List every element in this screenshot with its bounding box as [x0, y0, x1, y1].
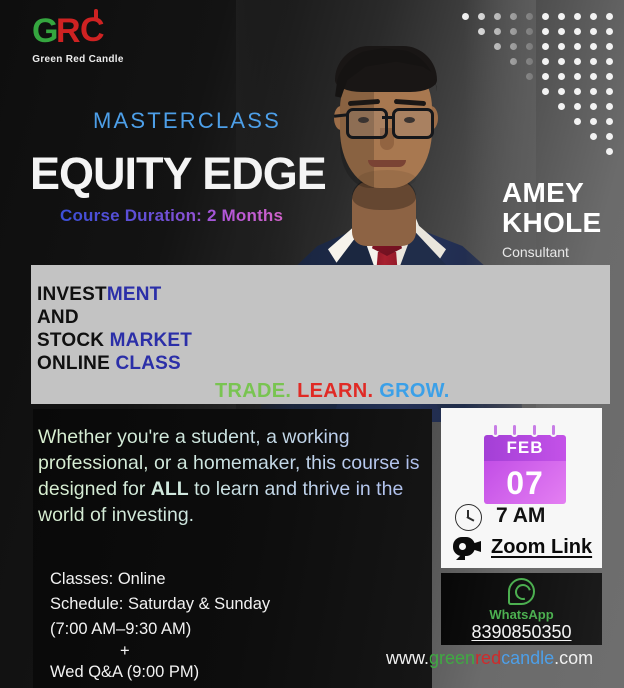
dot [558, 43, 565, 50]
session-time: 7 AM [496, 504, 545, 528]
topic-and: AND [37, 307, 79, 328]
url-red: red [475, 648, 501, 668]
dot [542, 58, 549, 65]
calendar-ring-4 [550, 423, 557, 437]
calendar-ring-2 [511, 423, 518, 437]
date-info-card: FEB 07 7 AM Zoom Link [441, 408, 602, 568]
tagline-learn: LEARN. [297, 380, 373, 402]
dot [558, 58, 565, 65]
dot [590, 118, 597, 125]
dot [542, 73, 549, 80]
dot [606, 13, 613, 20]
dot [590, 133, 597, 140]
logo-letter-r: R [56, 14, 79, 48]
dot [574, 88, 581, 95]
tagline: TRADE. LEARN. GROW. [215, 380, 450, 403]
schedule-time: (7:00 AM–9:30 AM) [50, 617, 270, 642]
topic-line-4: ONLINE CLASS [37, 352, 192, 375]
calendar-month: FEB [507, 438, 544, 458]
calendar-ring-1 [492, 423, 499, 437]
presenter-name: AMEY KHOLE [502, 178, 620, 238]
topic-class: CLASS [115, 353, 180, 374]
schedule-days: Schedule: Saturday & Sunday [50, 592, 270, 617]
schedule-block: Classes: Online Schedule: Saturday & Sun… [50, 567, 270, 685]
dot [574, 43, 581, 50]
dot [558, 73, 565, 80]
dot [606, 88, 613, 95]
mouth-shape [368, 160, 406, 167]
logo-letter-c: C [80, 13, 103, 47]
dot [590, 13, 597, 20]
eyebrow-label: MASTERCLASS [93, 108, 281, 134]
zoom-link[interactable]: Zoom Link [491, 536, 592, 559]
topic-ment: MENT [107, 284, 162, 305]
glasses-lens-right [392, 108, 434, 139]
calendar-rings [484, 423, 566, 435]
topic-line-1: INVESTMENT [37, 283, 192, 306]
url-suffix: .com [554, 648, 593, 668]
whatsapp-label: WhatsApp [441, 607, 602, 622]
dot [542, 28, 549, 35]
dot [542, 13, 549, 20]
website-url[interactable]: www.greenredcandle.com [386, 648, 593, 669]
url-green: green [429, 648, 475, 668]
whatsapp-panel[interactable]: WhatsApp 8390850350 [441, 573, 602, 645]
dot [558, 103, 565, 110]
presenter-info: AMEY KHOLE Consultant [502, 178, 620, 260]
schedule-classes: Classes: Online [50, 567, 270, 592]
video-camera-icon[interactable] [453, 536, 483, 560]
whatsapp-number[interactable]: 8390850350 [441, 622, 602, 643]
presenter-role: Consultant [502, 244, 620, 260]
candle-wick-icon [94, 9, 98, 21]
calendar-ring-3 [531, 423, 538, 437]
course-topic-text: INVESTMENT AND STOCK MARKET ONLINE CLASS [37, 283, 192, 375]
dot [542, 88, 549, 95]
paragraph-emphasis: ALL [151, 478, 189, 500]
dot [590, 28, 597, 35]
calendar-day-body: 07 [484, 461, 566, 504]
dot [606, 43, 613, 50]
dot [590, 73, 597, 80]
clock-icon [455, 504, 482, 531]
dot [606, 118, 613, 125]
page-title: EQUITY EDGE [30, 148, 326, 200]
schedule-qa: Wed Q&A (9:00 PM) [50, 660, 270, 685]
url-prefix: www. [386, 648, 429, 668]
glasses-bridge [382, 116, 392, 119]
calendar-day: 07 [506, 467, 544, 499]
glasses-lens-left [346, 108, 388, 139]
dot [606, 58, 613, 65]
topic-line-2: AND [37, 306, 192, 329]
dot [574, 118, 581, 125]
presenter-first-name: AMEY [502, 178, 620, 208]
dot [558, 88, 565, 95]
tagline-grow: GROW. [379, 380, 449, 402]
topic-stock: STOCK [37, 330, 110, 351]
dot [590, 58, 597, 65]
logo-letter-g: G [32, 14, 56, 48]
dot [574, 58, 581, 65]
dot [574, 13, 581, 20]
dot [558, 13, 565, 20]
whatsapp-icon [508, 578, 535, 605]
brand-logo: G R C Green Red Candle [26, 14, 130, 70]
dot [606, 103, 613, 110]
logo-mark: G R C [32, 14, 116, 50]
logo-wordmark: Green Red Candle [26, 54, 130, 65]
url-blue: candle [501, 648, 554, 668]
topic-online: ONLINE [37, 353, 115, 374]
dot [590, 88, 597, 95]
dot [590, 43, 597, 50]
dot [542, 43, 549, 50]
topic-market: MARKET [110, 330, 192, 351]
dot [558, 28, 565, 35]
schedule-plus: + [120, 642, 270, 660]
topic-line-3: STOCK MARKET [37, 329, 192, 352]
dot [590, 103, 597, 110]
dot [606, 148, 613, 155]
dot [574, 103, 581, 110]
calendar-icon: FEB 07 [484, 423, 566, 504]
calendar-month-header: FEB [484, 435, 566, 461]
dot [574, 73, 581, 80]
promo-poster: G R C Green Red Candle MASTERCLASS EQUIT… [0, 0, 624, 688]
course-duration-label: Course Duration: 2 Months [60, 206, 283, 226]
description-paragraph: Whether you're a student, a working prof… [38, 424, 438, 528]
dot [606, 133, 613, 140]
dot [606, 28, 613, 35]
presenter-last-name: KHOLE [502, 208, 620, 238]
dot [574, 28, 581, 35]
dot [606, 73, 613, 80]
tagline-trade: TRADE. [215, 380, 291, 402]
chin-shadow [358, 170, 416, 188]
topic-invest: INVEST [37, 284, 107, 305]
